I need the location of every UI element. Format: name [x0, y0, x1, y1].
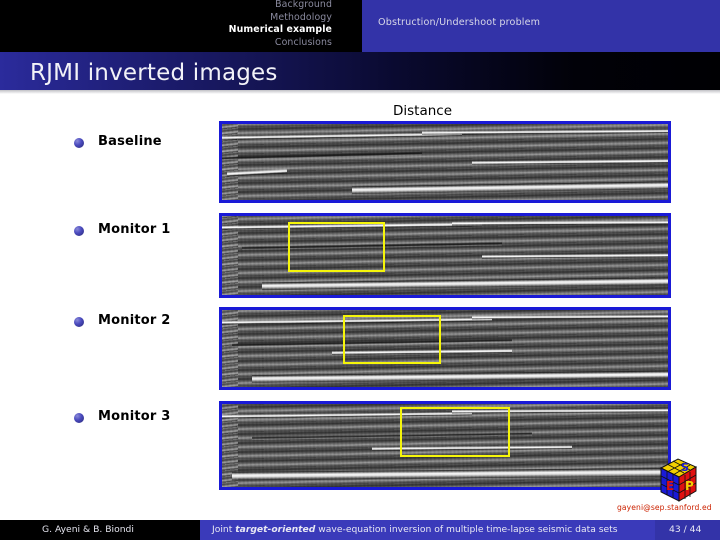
- contact-email: gayeni@sep.stanford.ed: [617, 503, 712, 512]
- nav-item-conclusions[interactable]: Conclusions: [0, 37, 332, 50]
- footer-paper-pre: Joint: [212, 524, 235, 535]
- seismic-image: [222, 124, 668, 200]
- seismic-panel-monitor-2[interactable]: [219, 307, 671, 390]
- x-axis-label-distance: Distance: [393, 103, 452, 119]
- footer-paper-post: wave-equation inversion of multiple time…: [315, 524, 617, 535]
- footer-paper-emphasis: target-oriented: [235, 524, 315, 535]
- svg-text:P: P: [685, 479, 694, 493]
- bullet-dot-icon: [74, 317, 84, 327]
- svg-text:E: E: [666, 479, 674, 493]
- list-item-label: Monitor 3: [98, 409, 171, 424]
- seismic-image: [222, 310, 668, 387]
- bullet-dot-icon: [74, 138, 84, 148]
- nav-item-background[interactable]: Background: [0, 0, 332, 12]
- nav-item-numerical-example[interactable]: Numerical example: [0, 24, 332, 37]
- bullet-dot-icon: [74, 226, 84, 236]
- footer-page-number: 43 / 44: [669, 524, 701, 535]
- title-bar-shadow: [0, 90, 720, 94]
- page-title: RJMI inverted images: [30, 60, 278, 86]
- sep-cube-logo-icon: S E P: [651, 456, 701, 504]
- svg-text:S: S: [681, 461, 689, 474]
- list-item-label: Monitor 1: [98, 222, 171, 237]
- seismic-image: [222, 404, 668, 487]
- seismic-image: [222, 216, 668, 295]
- footer-paper-title: Joint target-oriented wave-equation inve…: [212, 524, 618, 535]
- footer-author: G. Ayeni & B. Biondi: [42, 524, 134, 535]
- list-item-label: Baseline: [98, 134, 162, 149]
- nav-item-methodology[interactable]: Methodology: [0, 12, 332, 25]
- outline-nav-list: Background Methodology Numerical example…: [0, 0, 348, 49]
- seismic-panel-monitor-3[interactable]: [219, 401, 671, 490]
- seismic-panel-baseline[interactable]: [219, 121, 671, 203]
- bullet-dot-icon: [74, 413, 84, 423]
- seismic-panel-monitor-1[interactable]: [219, 213, 671, 298]
- list-item-label: Monitor 2: [98, 313, 171, 328]
- current-section-title: Obstruction/Undershoot problem: [378, 17, 540, 28]
- top-navigation-bar: Background Methodology Numerical example…: [0, 0, 720, 52]
